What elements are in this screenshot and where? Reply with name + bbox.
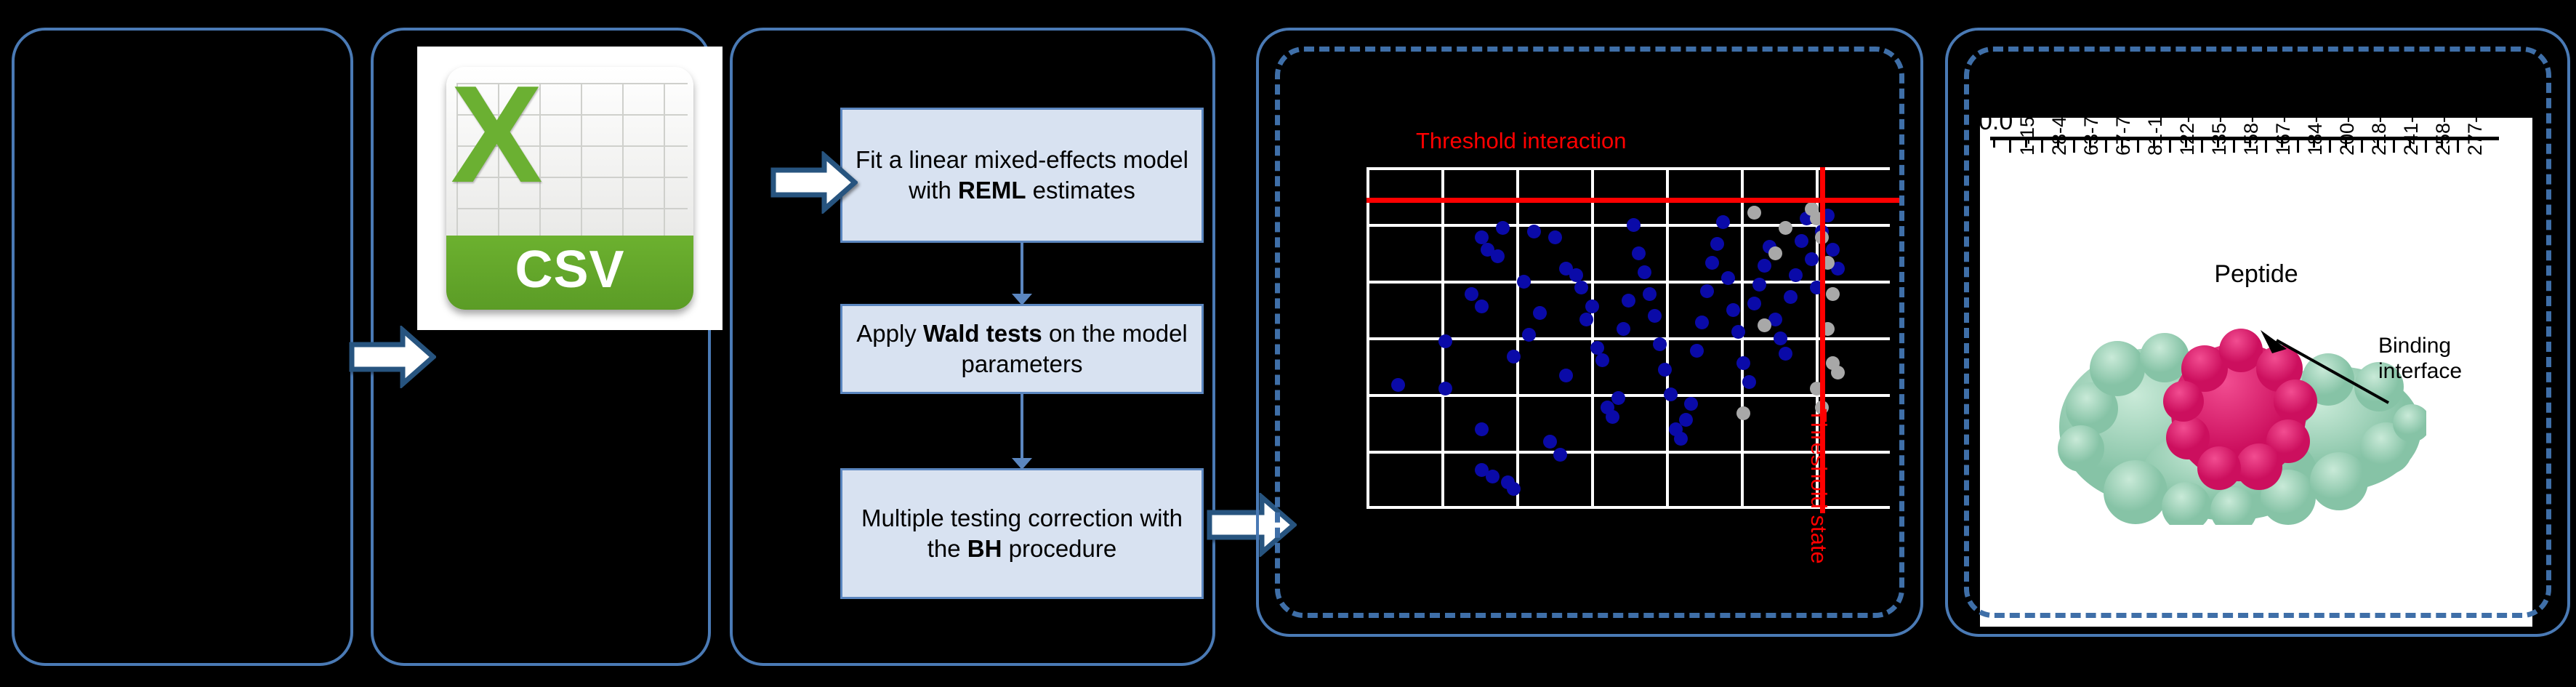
peptide-tick-label: 135-144 bbox=[2208, 84, 2231, 156]
csv-format-band: CSV bbox=[446, 236, 693, 310]
peptide-tick-label: 241-257 bbox=[2400, 84, 2423, 156]
connector-step2-step3 bbox=[1021, 394, 1023, 459]
scatter-point-significant bbox=[1774, 332, 1787, 345]
peptide-minor-tick bbox=[2329, 140, 2331, 148]
scatter-point-significant bbox=[1438, 382, 1452, 395]
step3-text-post: procedure bbox=[1002, 535, 1116, 562]
peptide-minor-tick bbox=[1993, 140, 1995, 148]
peptide-minor-tick bbox=[2041, 140, 2043, 148]
peptide-tick-label: 200-214 bbox=[2336, 84, 2359, 156]
scatter-point-significant bbox=[1627, 218, 1641, 232]
scatter-point-significant bbox=[1742, 375, 1756, 389]
peptide-minor-tick bbox=[2425, 140, 2427, 148]
scatter-point-significant bbox=[1579, 313, 1593, 326]
scatter-point-nonsignificant bbox=[1768, 246, 1782, 260]
volcano-plot-area: Threshold interaction Threshold state bbox=[1367, 167, 1890, 509]
peptide-tick-label: 63-73 bbox=[2080, 105, 2103, 156]
scatter-point-significant bbox=[1611, 391, 1625, 405]
pipeline-step-3: Multiple testing correction with the BH … bbox=[840, 468, 1204, 599]
peptide-axis-title: Peptide bbox=[1980, 260, 2532, 289]
binding-interface-line-1: Binding bbox=[2378, 333, 2462, 358]
peptide-tick-label: 122-129 bbox=[2176, 84, 2199, 156]
peptide-tick-label: 277-284 bbox=[2464, 84, 2487, 156]
binding-interface-annotation: Binding interface bbox=[2378, 333, 2462, 385]
scatter-point-significant bbox=[1731, 325, 1745, 339]
panel-volcano-plot: Threshold interaction Threshold state bbox=[1256, 28, 1923, 637]
scatter-point-significant bbox=[1700, 284, 1714, 298]
scatter-point-significant bbox=[1606, 410, 1619, 424]
scatter-point-significant bbox=[1517, 275, 1531, 289]
peptide-tick-label: 28-44 bbox=[2048, 105, 2071, 156]
peptide-tick-label: 67-75 bbox=[2112, 105, 2135, 156]
peptide-minor-tick bbox=[2009, 140, 2011, 148]
threshold-state-label: Threshold state bbox=[1806, 409, 1832, 564]
scatter-point-significant bbox=[1553, 448, 1567, 462]
binding-interface-line-2: interface bbox=[2378, 358, 2462, 384]
scatter-point-significant bbox=[1491, 249, 1505, 263]
step2-emphasis: Wald tests bbox=[923, 320, 1042, 347]
peptide-minor-tick bbox=[2201, 140, 2203, 148]
scatter-point-significant bbox=[1643, 287, 1657, 301]
peptide-minor-tick bbox=[2265, 140, 2267, 148]
scatter-point-significant bbox=[1507, 482, 1521, 496]
csv-card: X CSV bbox=[417, 47, 723, 330]
step1-text-post: estimates bbox=[1026, 177, 1135, 204]
scatter-point-nonsignificant bbox=[1826, 287, 1840, 301]
panel-input-data bbox=[12, 28, 353, 666]
scatter-point-significant bbox=[1465, 287, 1478, 301]
scatter-point-significant bbox=[1622, 294, 1635, 308]
csv-file-icon: X CSV bbox=[446, 67, 693, 310]
scatter-point-significant bbox=[1726, 303, 1740, 317]
connector-step1-step2 bbox=[1021, 243, 1023, 295]
peptide-tick-label: 184-199 bbox=[2304, 84, 2327, 156]
peptide-tick-label: 158-166 bbox=[2240, 84, 2263, 156]
peptide-minor-tick bbox=[2297, 140, 2299, 148]
excel-x-letter: X bbox=[451, 73, 543, 196]
scatter-point-significant bbox=[1533, 306, 1547, 320]
scatter-point-significant bbox=[1690, 344, 1704, 358]
step1-emphasis: REML bbox=[958, 177, 1026, 204]
csv-format-label: CSV bbox=[446, 240, 693, 300]
peptide-tick-label: 258-266 bbox=[2432, 84, 2455, 156]
peptide-tick-label: 81-101 bbox=[2144, 95, 2167, 156]
pipeline-step-1: Fit a linear mixed-effects model with RE… bbox=[840, 108, 1204, 243]
scatter-point-significant bbox=[1705, 256, 1719, 270]
peptide-tick-label: 1-15 bbox=[2016, 116, 2039, 156]
step2-text-pre: Apply bbox=[856, 320, 923, 347]
scatter-point-significant bbox=[1716, 215, 1730, 229]
peptide-minor-tick bbox=[2457, 140, 2459, 148]
structure-card: 0.0 1-1528-4463-7367-7581-101122-129135-… bbox=[1980, 118, 2532, 627]
scatter-point-significant bbox=[1695, 316, 1709, 329]
scatter-point-significant bbox=[1752, 278, 1766, 292]
binding-interface-arrow bbox=[2256, 327, 2394, 414]
scatter-point-significant bbox=[1569, 268, 1583, 282]
peptide-tick-label: 167-180 bbox=[2272, 84, 2295, 156]
scatter-point-significant bbox=[1585, 300, 1599, 313]
peptide-minor-tick bbox=[2105, 140, 2107, 148]
scatter-point-significant bbox=[1617, 322, 1630, 336]
scatter-point-significant bbox=[1527, 225, 1541, 238]
flow-arrow-csv-to-model bbox=[770, 151, 858, 214]
threshold-interaction-label: Threshold interaction bbox=[1416, 128, 1627, 154]
peptide-minor-tick bbox=[2393, 140, 2395, 148]
scatter-point-significant bbox=[1595, 353, 1609, 367]
peptide-minor-tick bbox=[2137, 140, 2139, 148]
peptide-minor-tick bbox=[2073, 140, 2075, 148]
flow-arrow-input-to-csv bbox=[349, 326, 436, 388]
scatter-point-significant bbox=[1438, 334, 1452, 348]
y-axis-tick-label: 0.0 bbox=[1979, 108, 2013, 136]
peptide-tick-label: 218-237 bbox=[2368, 84, 2391, 156]
scatter-point-significant bbox=[1590, 341, 1604, 355]
scatter-point-significant bbox=[1674, 432, 1688, 446]
scatter-point-nonsignificant bbox=[1747, 206, 1761, 220]
step3-emphasis: BH bbox=[967, 535, 1002, 562]
peptide-minor-tick bbox=[2169, 140, 2171, 148]
peptide-minor-tick bbox=[2233, 140, 2235, 148]
scatter-point-significant bbox=[1664, 387, 1678, 401]
scatter-point-significant bbox=[1638, 265, 1651, 279]
scatter-point-significant bbox=[1559, 369, 1573, 382]
pipeline-step-2: Apply Wald tests on the model parameters bbox=[840, 304, 1204, 394]
panel-peptide-profile: 0.0 1-1528-4463-7367-7581-101122-129135-… bbox=[1945, 28, 2570, 637]
scatter-point-significant bbox=[1747, 297, 1761, 310]
peptide-minor-tick bbox=[2361, 140, 2363, 148]
scatter-point-significant bbox=[1507, 350, 1521, 363]
scatter-point-significant bbox=[1795, 234, 1808, 248]
scatter-point-nonsignificant bbox=[1831, 366, 1845, 379]
scatter-point-significant bbox=[1486, 470, 1500, 483]
